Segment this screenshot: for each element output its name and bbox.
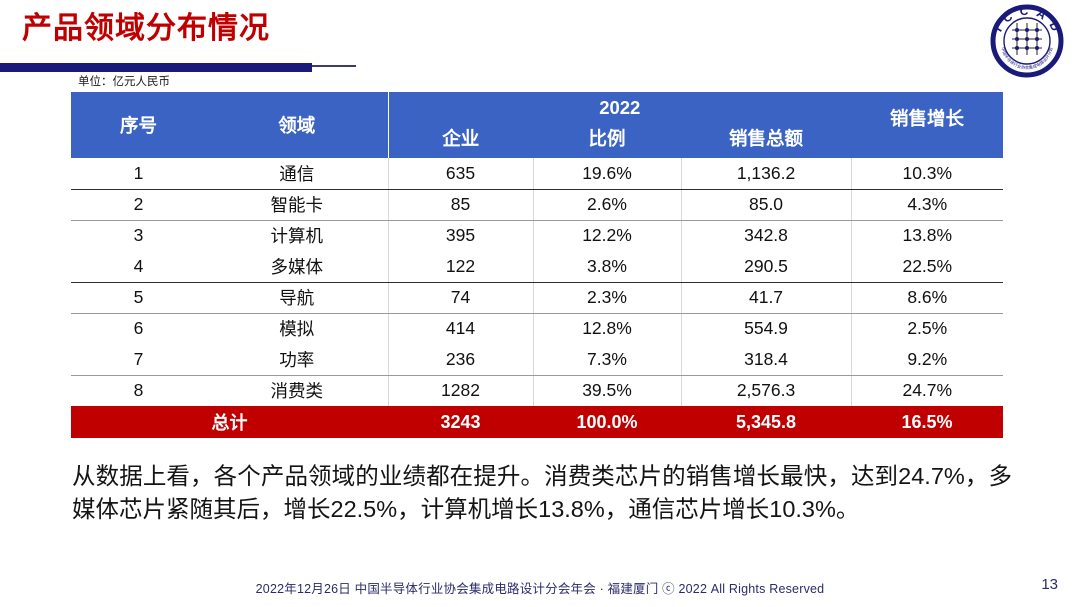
cell-ratio: 2.3% bbox=[533, 282, 681, 313]
slide: 产品领域分布情况 bbox=[0, 0, 1080, 607]
cell-enterprises: 1282 bbox=[388, 375, 533, 406]
page-title: 产品领域分布情况 bbox=[22, 12, 270, 47]
cell-index: 7 bbox=[71, 344, 206, 375]
cell-field: 导航 bbox=[206, 282, 388, 313]
table-total-row: 总计 3243 100.0% 5,345.8 16.5% bbox=[71, 406, 1003, 438]
th-enterprises: 企业 bbox=[388, 120, 533, 158]
cell-total-enterprises: 3243 bbox=[388, 406, 533, 438]
title-divider-thin bbox=[312, 65, 356, 67]
cell-index: 2 bbox=[71, 189, 206, 220]
table-row: 4 多媒体 122 3.8% 290.5 22.5% bbox=[71, 251, 1003, 282]
cell-sales-total: 2,576.3 bbox=[681, 375, 851, 406]
cell-index: 6 bbox=[71, 313, 206, 344]
cell-field: 多媒体 bbox=[206, 251, 388, 282]
cell-field: 模拟 bbox=[206, 313, 388, 344]
th-field: 领域 bbox=[206, 92, 388, 158]
cell-enterprises: 395 bbox=[388, 220, 533, 251]
iccad-logo: ICCAD 中国半导体行业协会集成电路设计分会 bbox=[990, 4, 1064, 78]
unit-label: 单位：亿元人民币 bbox=[78, 73, 170, 89]
footer-text: 2022年12月26日 中国半导体行业协会集成电路设计分会年会 · 福建厦门 ⓒ… bbox=[0, 578, 1080, 597]
cell-total-sales-growth: 16.5% bbox=[851, 406, 1003, 438]
cell-enterprises: 85 bbox=[388, 189, 533, 220]
table-row: 3 计算机 395 12.2% 342.8 13.8% bbox=[71, 220, 1003, 251]
cell-sales-growth: 10.3% bbox=[851, 158, 1003, 189]
cell-enterprises: 236 bbox=[388, 344, 533, 375]
table-header: 序号 领域 2022 销售增长 企业 比例 销售总额 bbox=[71, 92, 1003, 158]
cell-sales-growth: 9.2% bbox=[851, 344, 1003, 375]
cell-total-ratio: 100.0% bbox=[533, 406, 681, 438]
product-field-table: 序号 领域 2022 销售增长 企业 比例 销售总额 1 通信 635 19.6… bbox=[71, 92, 1003, 438]
th-ratio: 比例 bbox=[533, 120, 681, 158]
cell-field: 计算机 bbox=[206, 220, 388, 251]
cell-sales-total: 554.9 bbox=[681, 313, 851, 344]
cell-sales-growth: 8.6% bbox=[851, 282, 1003, 313]
cell-field: 通信 bbox=[206, 158, 388, 189]
table-row: 5 导航 74 2.3% 41.7 8.6% bbox=[71, 282, 1003, 313]
cell-ratio: 2.6% bbox=[533, 189, 681, 220]
cell-sales-total: 290.5 bbox=[681, 251, 851, 282]
cell-sales-total: 41.7 bbox=[681, 282, 851, 313]
cell-sales-total: 85.0 bbox=[681, 189, 851, 220]
table-body: 1 通信 635 19.6% 1,136.2 10.3% 2 智能卡 85 2.… bbox=[71, 158, 1003, 438]
cell-sales-total: 1,136.2 bbox=[681, 158, 851, 189]
cell-ratio: 19.6% bbox=[533, 158, 681, 189]
cell-index: 3 bbox=[71, 220, 206, 251]
cell-index: 1 bbox=[71, 158, 206, 189]
cell-field: 消费类 bbox=[206, 375, 388, 406]
th-sales-growth: 销售增长 bbox=[851, 92, 1003, 158]
cell-ratio: 3.8% bbox=[533, 251, 681, 282]
cell-sales-total: 318.4 bbox=[681, 344, 851, 375]
cell-sales-growth: 2.5% bbox=[851, 313, 1003, 344]
cell-total-sales-total: 5,345.8 bbox=[681, 406, 851, 438]
table-row: 1 通信 635 19.6% 1,136.2 10.3% bbox=[71, 158, 1003, 189]
cell-sales-growth: 22.5% bbox=[851, 251, 1003, 282]
cell-ratio: 12.2% bbox=[533, 220, 681, 251]
cell-total-label: 总计 bbox=[71, 406, 388, 438]
title-divider-thick bbox=[0, 63, 312, 72]
table-row: 8 消费类 1282 39.5% 2,576.3 24.7% bbox=[71, 375, 1003, 406]
cell-ratio: 39.5% bbox=[533, 375, 681, 406]
cell-sales-growth: 13.8% bbox=[851, 220, 1003, 251]
table-row: 2 智能卡 85 2.6% 85.0 4.3% bbox=[71, 189, 1003, 220]
cell-enterprises: 414 bbox=[388, 313, 533, 344]
cell-enterprises: 74 bbox=[388, 282, 533, 313]
cell-sales-growth: 24.7% bbox=[851, 375, 1003, 406]
cell-index: 4 bbox=[71, 251, 206, 282]
table-row: 7 功率 236 7.3% 318.4 9.2% bbox=[71, 344, 1003, 375]
cell-enterprises: 122 bbox=[388, 251, 533, 282]
cell-enterprises: 635 bbox=[388, 158, 533, 189]
summary-paragraph: 从数据上看，各个产品领域的业绩都在提升。消费类芯片的销售增长最快，达到24.7%… bbox=[72, 460, 1012, 527]
cell-ratio: 12.8% bbox=[533, 313, 681, 344]
cell-field: 功率 bbox=[206, 344, 388, 375]
iccad-logo-icon: ICCAD 中国半导体行业协会集成电路设计分会 bbox=[990, 4, 1064, 78]
th-year-2022: 2022 bbox=[388, 92, 851, 120]
page-number: 13 bbox=[1041, 576, 1058, 593]
th-sales-total: 销售总额 bbox=[681, 120, 851, 158]
cell-sales-growth: 4.3% bbox=[851, 189, 1003, 220]
cell-field: 智能卡 bbox=[206, 189, 388, 220]
cell-sales-total: 342.8 bbox=[681, 220, 851, 251]
cell-index: 8 bbox=[71, 375, 206, 406]
th-index: 序号 bbox=[71, 92, 206, 158]
table-row: 6 模拟 414 12.8% 554.9 2.5% bbox=[71, 313, 1003, 344]
cell-ratio: 7.3% bbox=[533, 344, 681, 375]
cell-index: 5 bbox=[71, 282, 206, 313]
